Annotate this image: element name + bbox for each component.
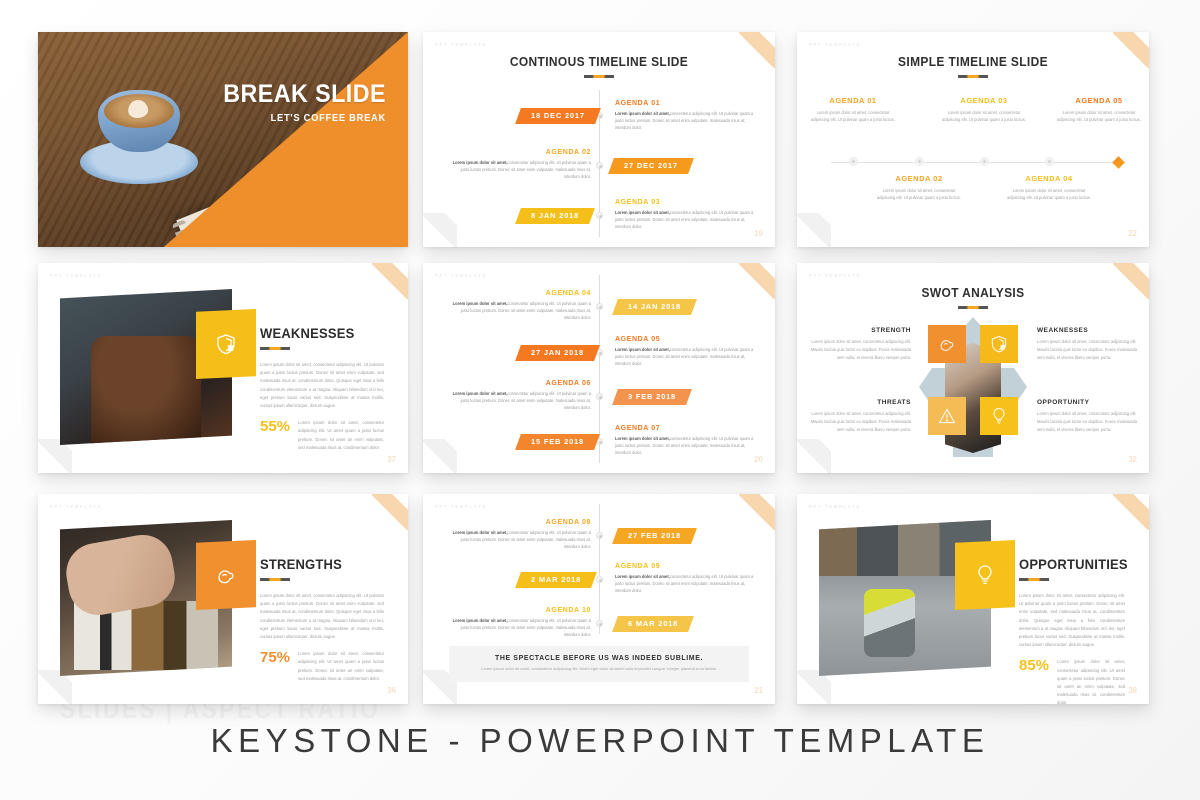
timeline-agenda-label: AGENDA 03: [940, 96, 1028, 105]
timeline-text-block: AGENDA 03 Lorem ipsum dolor sit amet,con…: [615, 199, 755, 230]
slide-thumbnail-continous-timeline-3[interactable]: PPT TEMPLATE 21 27 FEB 2018 AGENDA 08 Lo…: [423, 494, 775, 704]
timeline-body-text: Lorem ipsum dolor sit amet,consectetur a…: [451, 617, 591, 638]
slide-header-label: PPT TEMPLATE: [50, 273, 102, 278]
slide-thumbnail-strengths[interactable]: PPT TEMPLATE 36 STRENGTHS Lorem ipsum do…: [38, 494, 408, 704]
lightbulb-icon: [973, 563, 997, 587]
timeline-body-text: Lorem ipsum dolor sit amet, consectetur …: [940, 109, 1028, 124]
slide-page-number: 22: [1128, 229, 1137, 238]
timeline-node[interactable]: [596, 576, 603, 583]
timeline-body-text: Lorem ipsum dolor sit amet,consectetur a…: [451, 300, 591, 321]
timeline-text-block: AGENDA 02 Lorem ipsum dolor sit amet,con…: [451, 149, 591, 180]
stat-percent: 75%: [260, 650, 290, 665]
timeline-node[interactable]: [596, 303, 603, 310]
body-text: Lorem ipsum dolor sit amet, consectetur …: [1019, 592, 1125, 649]
timeline-body-text: Lorem ipsum dolor sit amet, consectetur …: [875, 187, 963, 202]
timeline-text-block: AGENDA 06 Lorem ipsum dolor sit amet,con…: [451, 380, 591, 411]
timeline-node[interactable]: [596, 620, 603, 627]
swot-label-strength: STRENGTH Lorem ipsum dolor sit amet, con…: [807, 327, 911, 361]
timeline-item: AGENDA 03 Lorem ipsum dolor sit amet, co…: [940, 96, 1028, 124]
timeline-agenda-label: AGENDA 02: [451, 149, 591, 156]
timeline-text-block: AGENDA 10 Lorem ipsum dolor sit amet,con…: [451, 607, 591, 638]
slide-title-block: SIMPLE TIMELINE SLIDE: [797, 54, 1149, 78]
node-dot-icon: [1047, 159, 1051, 163]
timeline-node[interactable]: [596, 532, 603, 539]
timeline-node[interactable]: [980, 157, 989, 166]
timeline-agenda-label: AGENDA 09: [615, 563, 755, 570]
title-rule: [958, 306, 988, 309]
timeline-agenda-label: AGENDA 04: [1005, 174, 1093, 183]
timeline-body-text: Lorem ipsum dolor sit amet,consectetur a…: [615, 110, 755, 131]
opportunities-icon-tile: [955, 540, 1015, 610]
coffee-cup-illustration: [80, 84, 198, 184]
slide-thumbnail-opportunities[interactable]: PPT TEMPLATE 38 OPPORTUNITIES Lorem ipsu…: [797, 494, 1149, 704]
muscle-arm-icon: [214, 563, 238, 587]
slide-thumbnail-weaknesses[interactable]: PPT TEMPLATE 37 WEAKNESSES Lorem ipsum d…: [38, 263, 408, 473]
stat-block: 75% Lorem ipsum dolor sit amet, consecte…: [260, 650, 384, 683]
slide-header-label: PPT TEMPLATE: [435, 42, 487, 47]
timeline-agenda-label: AGENDA 05: [615, 336, 755, 343]
swot-heading: THREATS: [807, 399, 911, 406]
timeline-body-text: Lorem ipsum dolor sit amet,consectetur a…: [615, 346, 755, 367]
timeline-date-badge[interactable]: 27 DEC 2017: [608, 158, 694, 174]
weaknesses-icon-tile: [196, 309, 256, 379]
node-dot-icon: [917, 159, 921, 163]
timeline-body-text: Lorem ipsum dolor sit amet,consectetur a…: [451, 529, 591, 550]
slide-thumbnail-continous-timeline-2[interactable]: PPT TEMPLATE 20 14 JAN 2018 AGENDA 04 Lo…: [423, 263, 775, 473]
timeline-date-badge[interactable]: 3 FEB 2018: [612, 389, 692, 405]
stat-block: 55% Lorem ipsum dolor sit amet, consecte…: [260, 419, 384, 452]
timeline-item: AGENDA 05 Lorem ipsum dolor sit amet, co…: [1055, 96, 1143, 124]
timeline-agenda-label: AGENDA 02: [875, 174, 963, 183]
slide-title-block: SWOT ANALYSIS: [797, 285, 1149, 309]
timeline-text-block: AGENDA 01 Lorem ipsum dolor sit amet,con…: [615, 100, 755, 131]
slide-title-block: CONTINOUS TIMELINE SLIDE: [423, 54, 775, 78]
slide-header-label: PPT TEMPLATE: [435, 504, 487, 509]
timeline-text-block: AGENDA 08 Lorem ipsum dolor sit amet,con…: [451, 519, 591, 550]
swot-tile-threats[interactable]: [928, 397, 966, 435]
stat-text: Lorem ipsum dolor sit amet, consectetur …: [298, 419, 384, 452]
slide-thumbnail-continous-timeline[interactable]: PPT TEMPLATE 19 CONTINOUS TIMELINE SLIDE…: [423, 32, 775, 247]
slide-title: SIMPLE TIMELINE SLIDE: [811, 54, 1135, 69]
shield-icon: [989, 334, 1009, 354]
swot-body: Lorem ipsum dolor sit amet, consectetur …: [1037, 410, 1141, 433]
quote-box: THE SPECTACLE BEFORE US WAS INDEED SUBLI…: [449, 646, 749, 682]
stat-text: Lorem ipsum dolor sit amet, consectetur …: [1057, 658, 1125, 704]
swot-tile-strength[interactable]: [928, 325, 966, 363]
swot-diagram: STRENGTH Lorem ipsum dolor sit amet, con…: [797, 315, 1149, 459]
node-diamond-icon: [1112, 156, 1125, 169]
slide-header-label: PPT TEMPLATE: [435, 273, 487, 278]
timeline-agenda-label: AGENDA 07: [615, 425, 755, 432]
timeline-text-block: AGENDA 09 Lorem ipsum dolor sit amet,con…: [615, 563, 755, 594]
cover-text-block: BREAK SLIDE LET'S COFFEE BREAK: [211, 82, 386, 124]
timeline-body-text: Lorem ipsum dolor sit amet, consectetur …: [1055, 109, 1143, 124]
timeline-node[interactable]: [596, 162, 603, 169]
page-title: KEYSTONE - POWERPOINT TEMPLATE: [0, 722, 1200, 760]
slide-thumbnail-swot-analysis[interactable]: PPT TEMPLATE 32 SWOT ANALYSIS: [797, 263, 1149, 473]
slide-page-number: 20: [754, 455, 763, 464]
quote-body: Lorem ipsum dolor sit amet, consectetur …: [463, 666, 735, 673]
timeline-node[interactable]: [849, 157, 858, 166]
timeline-date-badge[interactable]: 14 JAN 2018: [612, 299, 697, 315]
corner-accent-bottom-left-icon: [423, 439, 457, 473]
timeline-node[interactable]: [596, 393, 603, 400]
timeline-agenda-label: AGENDA 10: [451, 607, 591, 614]
corner-accent-top-right-icon: [372, 494, 408, 530]
body-text: Lorem ipsum dolor sit amet, consectetur …: [260, 361, 384, 410]
slide-title: STRENGTHS: [260, 556, 375, 572]
slide-page-number: 38: [1128, 686, 1137, 695]
cover-title: BREAK SLIDE: [223, 82, 386, 107]
swot-heading: STRENGTH: [807, 327, 911, 334]
timeline-date-badge[interactable]: 27 FEB 2018: [612, 528, 697, 544]
swot-body: Lorem ipsum dolor sit amet, consectetur …: [807, 338, 911, 361]
timeline-date-badge[interactable]: 15 FEB 2018: [515, 434, 600, 450]
timeline-agenda-label: AGENDA 04: [451, 290, 591, 297]
timeline-item: AGENDA 02 Lorem ipsum dolor sit amet, co…: [875, 174, 963, 202]
slide-title: CONTINOUS TIMELINE SLIDE: [437, 54, 761, 69]
lightbulb-icon: [989, 406, 1009, 426]
swot-heading: OPPORTUNITY: [1037, 399, 1141, 406]
stat-text: Lorem ipsum dolor sit amet, consectetur …: [298, 650, 384, 683]
timeline-date-badge[interactable]: 18 DEC 2017: [515, 108, 601, 124]
timeline-body-text: Lorem ipsum dolor sit amet, consectetur …: [809, 109, 897, 124]
timeline-agenda-label: AGENDA 01: [615, 100, 755, 107]
title-rule: [260, 347, 290, 350]
slide-header-label: PPT TEMPLATE: [809, 273, 861, 278]
timeline-text-block: AGENDA 05 Lorem ipsum dolor sit amet,con…: [615, 336, 755, 367]
node-dot-icon: [851, 159, 855, 163]
slide-title: OPPORTUNITIES: [1019, 556, 1118, 572]
timeline-track: [831, 162, 1119, 163]
timeline-body-text: Lorem ipsum dolor sit amet,consectetur a…: [451, 390, 591, 411]
cover-subtitle: LET'S COFFEE BREAK: [223, 113, 386, 124]
stat-percent: 85%: [1019, 658, 1049, 673]
strengths-content: STRENGTHS Lorem ipsum dolor sit amet, co…: [260, 556, 384, 683]
strengths-icon-tile: [196, 540, 256, 610]
timeline-node[interactable]: [915, 157, 924, 166]
timeline-item: AGENDA 04 Lorem ipsum dolor sit amet, co…: [1005, 174, 1093, 202]
timeline-date-badge[interactable]: 27 JAN 2018: [515, 345, 600, 361]
timeline-node[interactable]: [1045, 157, 1054, 166]
timeline-agenda-label: AGENDA 01: [809, 96, 897, 105]
stat-block: 85% Lorem ipsum dolor sit amet, consecte…: [1019, 658, 1125, 704]
title-rule: [958, 75, 988, 78]
swot-body: Lorem ipsum dolor sit amet, consectetur …: [807, 410, 911, 433]
timeline-date-badge[interactable]: 8 JAN 2018: [515, 208, 595, 224]
corner-accent-top-right-icon: [372, 263, 408, 299]
swot-tile-weaknesses[interactable]: [980, 325, 1018, 363]
quote-title: THE SPECTACLE BEFORE US WAS INDEED SUBLI…: [463, 655, 735, 662]
swot-heading: WEAKNESSES: [1037, 327, 1141, 334]
timeline-text-block: AGENDA 07 Lorem ipsum dolor sit amet,con…: [615, 425, 755, 456]
timeline-node[interactable]: [596, 212, 603, 219]
corner-accent-bottom-left-icon: [423, 213, 457, 247]
shield-icon: [214, 332, 238, 356]
timeline-body-text: Lorem ipsum dolor sit amet,consectetur a…: [615, 573, 755, 594]
timeline-body-text: Lorem ipsum dolor sit amet,consectetur a…: [615, 209, 755, 230]
slide-thumbnail-break-slide[interactable]: BREAK SLIDE LET'S COFFEE BREAK: [38, 32, 408, 247]
slide-thumbnail-simple-timeline[interactable]: PPT TEMPLATE 22 SIMPLE TIMELINE SLIDE AG…: [797, 32, 1149, 247]
slide-page-number: 37: [387, 455, 396, 464]
swot-label-threats: THREATS Lorem ipsum dolor sit amet, cons…: [807, 399, 911, 433]
slide-page-number: 21: [754, 686, 763, 695]
warning-icon: [937, 406, 957, 426]
corner-accent-top-right-icon: [739, 263, 775, 299]
swot-label-opportunity: OPPORTUNITY Lorem ipsum dolor sit amet, …: [1037, 399, 1141, 433]
slide-title: SWOT ANALYSIS: [811, 285, 1135, 300]
swot-label-weaknesses: WEAKNESSES Lorem ipsum dolor sit amet, c…: [1037, 327, 1141, 361]
node-dot-icon: [982, 159, 986, 163]
title-rule: [260, 578, 290, 581]
opportunities-content: OPPORTUNITIES Lorem ipsum dolor sit amet…: [1019, 556, 1125, 704]
slide-grid: BREAK SLIDE LET'S COFFEE BREAK PPT TEMPL…: [0, 0, 1200, 720]
timeline-agenda-label: AGENDA 06: [451, 380, 591, 387]
muscle-arm-icon: [937, 334, 957, 354]
timeline-date-badge[interactable]: 2 MAR 2018: [515, 572, 597, 588]
slide-header-label: PPT TEMPLATE: [809, 504, 861, 509]
timeline-axis: [599, 504, 600, 634]
timeline-date-badge[interactable]: 6 MAR 2018: [612, 616, 694, 632]
title-rule: [584, 75, 614, 78]
timeline-text-block: AGENDA 04 Lorem ipsum dolor sit amet,con…: [451, 290, 591, 321]
stat-percent: 55%: [260, 419, 290, 434]
weaknesses-content: WEAKNESSES Lorem ipsum dolor sit amet, c…: [260, 325, 384, 452]
corner-accent-top-right-icon: [1113, 494, 1149, 530]
timeline-body-text: Lorem ipsum dolor sit amet, consectetur …: [1005, 187, 1093, 202]
slide-header-label: PPT TEMPLATE: [809, 42, 861, 47]
timeline-body-text: Lorem ipsum dolor sit amet,consectetur a…: [615, 435, 755, 456]
timeline-item: AGENDA 01 Lorem ipsum dolor sit amet, co…: [809, 96, 897, 124]
slide-header-label: PPT TEMPLATE: [50, 504, 102, 509]
timeline-agenda-label: AGENDA 05: [1055, 96, 1143, 105]
timeline-node-active[interactable]: [1113, 157, 1122, 166]
slide-page-number: 36: [387, 686, 396, 695]
slide-page-number: 19: [754, 229, 763, 238]
body-text: Lorem ipsum dolor sit amet, consectetur …: [260, 592, 384, 641]
corner-accent-top-right-icon: [739, 494, 775, 530]
title-rule: [1019, 578, 1049, 581]
swot-tile-opportunity[interactable]: [980, 397, 1018, 435]
simple-timeline-wrap: AGENDA 01 Lorem ipsum dolor sit amet, co…: [797, 94, 1149, 229]
swot-body: Lorem ipsum dolor sit amet, consectetur …: [1037, 338, 1141, 361]
timeline-body-text: Lorem ipsum dolor sit amet,consectetur a…: [451, 159, 591, 180]
timeline-agenda-label: AGENDA 08: [451, 519, 591, 526]
slide-title: WEAKNESSES: [260, 325, 375, 341]
timeline-agenda-label: AGENDA 03: [615, 199, 755, 206]
